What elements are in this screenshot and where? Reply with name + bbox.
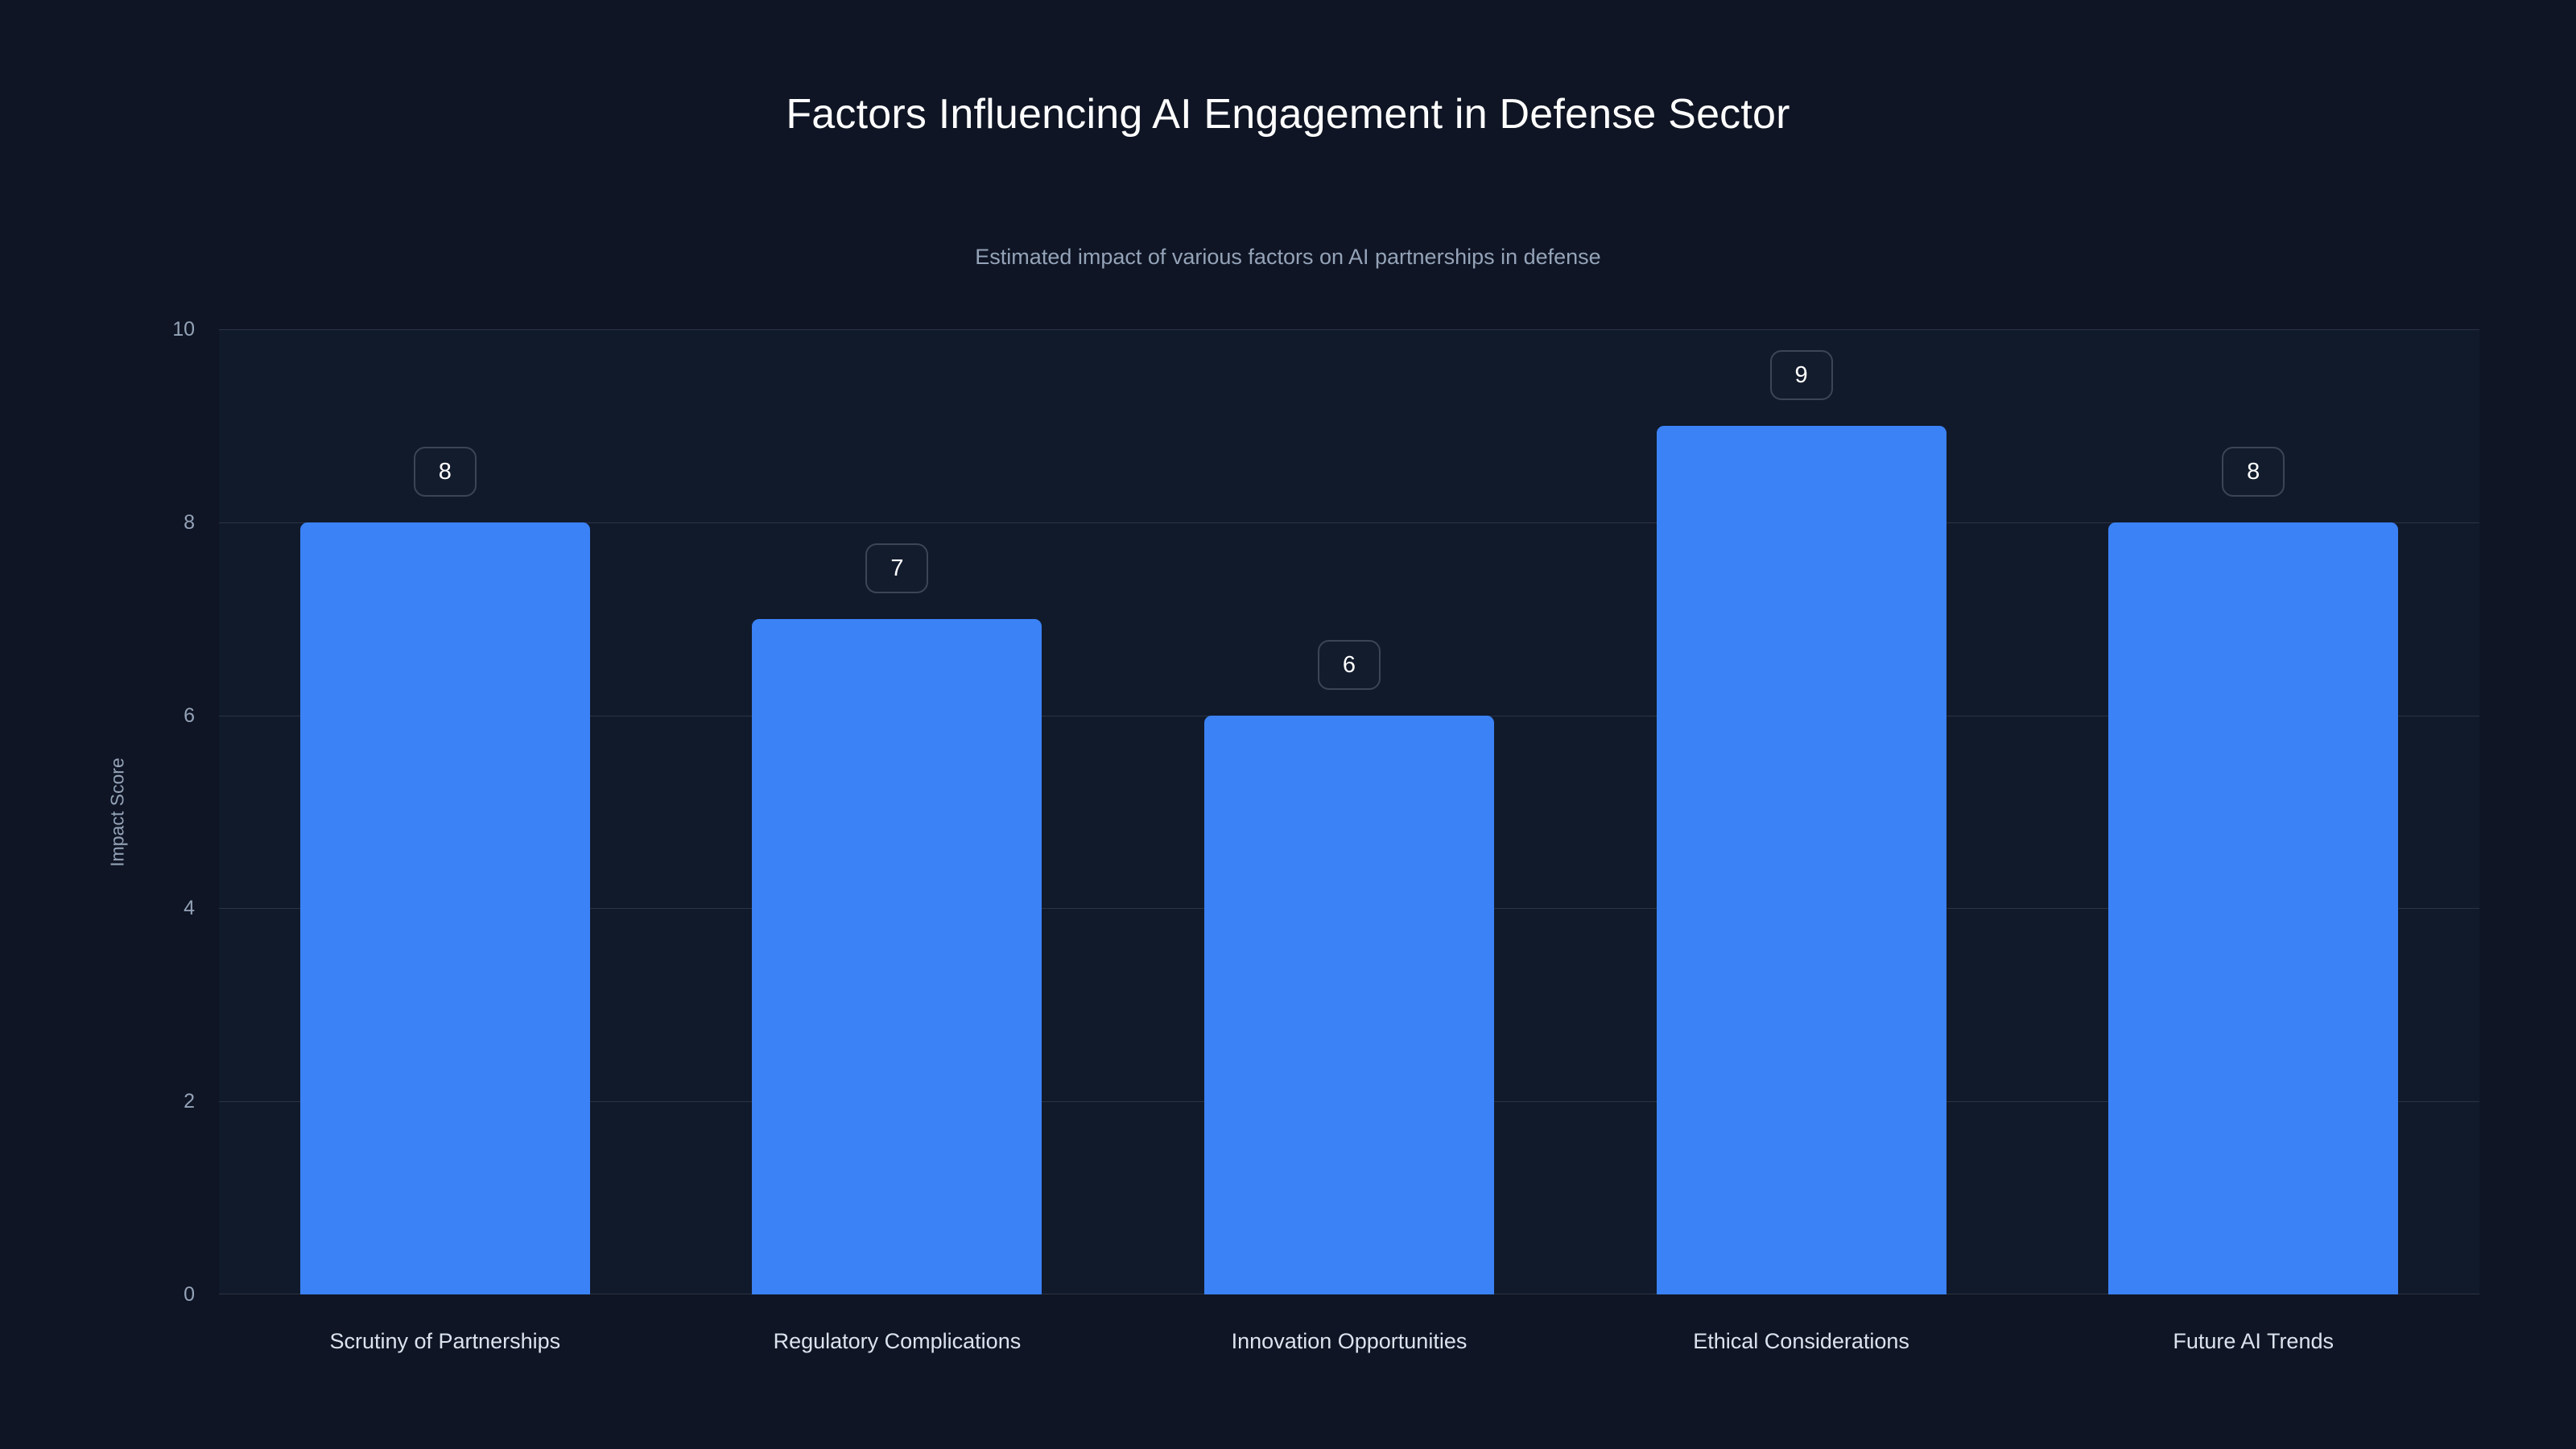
x-axis-tick-label: Regulatory Complications — [774, 1328, 1022, 1354]
bar-value-badge: 8 — [414, 447, 477, 497]
y-axis-tick-label: 0 — [90, 1285, 195, 1305]
y-axis-title: Impact Score — [109, 758, 127, 867]
bar[interactable] — [2108, 522, 2398, 1294]
bar-value-badge: 7 — [865, 543, 928, 593]
x-axis-tick-label: Future AI Trends — [2173, 1328, 2334, 1354]
bar[interactable] — [1204, 716, 1494, 1294]
bar-value-badge: 6 — [1318, 640, 1381, 690]
y-axis-tick-label: 8 — [90, 513, 195, 533]
chart-subtitle: Estimated impact of various factors on A… — [0, 244, 2576, 270]
bar[interactable] — [752, 619, 1042, 1294]
y-axis-tick-label: 2 — [90, 1092, 195, 1112]
bar-value-badge: 9 — [1770, 350, 1833, 400]
y-axis-tick-label: 10 — [90, 320, 195, 340]
bar[interactable] — [300, 522, 590, 1294]
gridline-10 — [219, 329, 2479, 330]
bar[interactable] — [1657, 426, 1946, 1294]
x-axis-tick-label: Ethical Considerations — [1693, 1328, 1909, 1354]
bar-value-badge: 8 — [2222, 447, 2285, 497]
page-title: Factors Influencing AI Engagement in Def… — [0, 90, 2576, 138]
y-axis-tick-label: 4 — [90, 898, 195, 919]
x-axis-tick-label: Innovation Opportunities — [1232, 1328, 1468, 1354]
chart-canvas: Factors Influencing AI Engagement in Def… — [0, 0, 2576, 1449]
x-axis-tick-label: Scrutiny of Partnerships — [329, 1328, 560, 1354]
y-axis-tick-label: 6 — [90, 706, 195, 726]
plot-area — [219, 329, 2479, 1294]
